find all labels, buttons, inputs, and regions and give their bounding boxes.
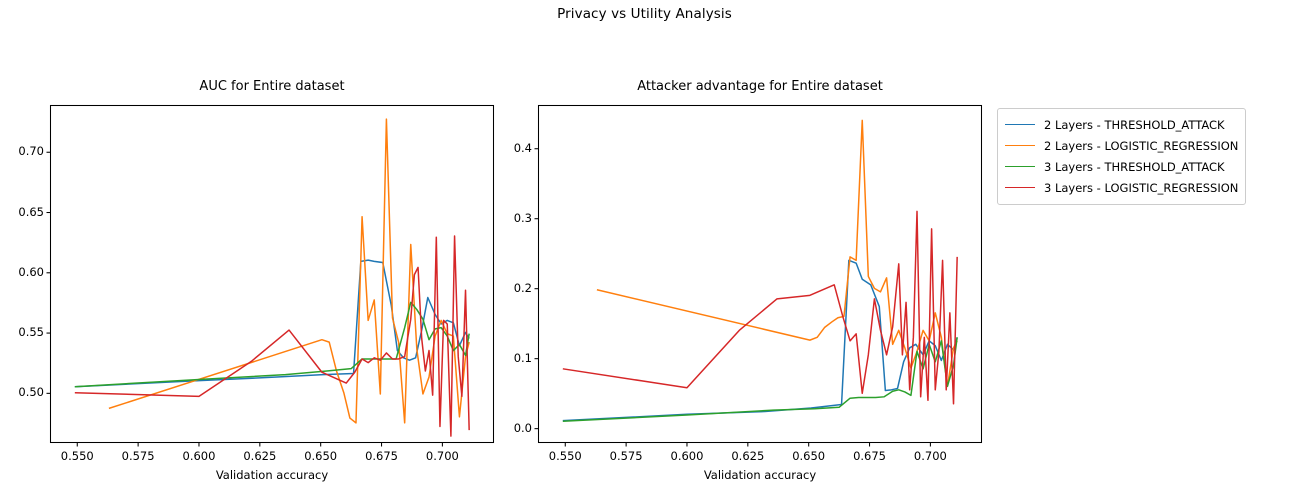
x-tick-label: 0.625 xyxy=(718,449,778,463)
legend-entry-3: 3 Layers - THRESHOLD_ATTACK xyxy=(1005,156,1238,177)
x-tick-label: 0.700 xyxy=(412,449,472,463)
figure-suptitle: Privacy vs Utility Analysis xyxy=(0,6,1289,22)
chart-legend: 2 Layers - THRESHOLD_ATTACK2 Layers - LO… xyxy=(997,108,1246,205)
figure-canvas: Privacy vs Utility Analysis 2 Layers - T… xyxy=(0,0,1289,495)
y-tick-label: 0.70 xyxy=(0,144,44,158)
plot-area xyxy=(538,105,982,443)
legend-entry-label: 2 Layers - THRESHOLD_ATTACK xyxy=(1044,118,1225,132)
legend-entry-label: 2 Layers - LOGISTIC_REGRESSION xyxy=(1044,139,1238,153)
y-tick-label: 0.4 xyxy=(472,141,532,155)
x-tick-label: 0.675 xyxy=(352,449,412,463)
legend-entry-label: 3 Layers - THRESHOLD_ATTACK xyxy=(1044,160,1225,174)
y-tick-label: 0.50 xyxy=(0,385,44,399)
x-tick-label: 0.675 xyxy=(840,449,900,463)
y-tick-label: 0.55 xyxy=(0,325,44,339)
subplot-2 xyxy=(538,105,982,443)
x-axis-label-2: Validation accuracy xyxy=(538,468,982,482)
y-tick-label: 0.60 xyxy=(0,265,44,279)
y-tick-label: 0.65 xyxy=(0,205,44,219)
x-tick-label: 0.600 xyxy=(657,449,717,463)
x-tick-label: 0.650 xyxy=(291,449,351,463)
y-tick-label: 0.0 xyxy=(472,421,532,435)
legend-entry-2: 2 Layers - LOGISTIC_REGRESSION xyxy=(1005,135,1238,156)
x-axis-label-1: Validation accuracy xyxy=(50,468,494,482)
x-tick-label: 0.575 xyxy=(596,449,656,463)
x-tick-label: 0.550 xyxy=(47,449,107,463)
legend-line-swatch-icon xyxy=(1005,145,1035,146)
subplot-1 xyxy=(50,105,494,443)
series-line-2 xyxy=(109,119,469,423)
x-tick-label: 0.650 xyxy=(779,449,839,463)
y-tick-label: 0.1 xyxy=(472,351,532,365)
x-tick-label: 0.600 xyxy=(169,449,229,463)
series-line-1 xyxy=(563,260,957,420)
x-tick-label: 0.550 xyxy=(535,449,595,463)
legend-line-swatch-icon xyxy=(1005,187,1035,188)
series-line-3 xyxy=(563,337,957,421)
plot-area xyxy=(50,105,494,443)
legend-entry-1: 2 Layers - THRESHOLD_ATTACK xyxy=(1005,114,1238,135)
axes-frame xyxy=(51,106,494,443)
subplot-title-1: AUC for Entire dataset xyxy=(50,79,494,94)
y-tick-label: 0.3 xyxy=(472,211,532,225)
legend-line-swatch-icon xyxy=(1005,166,1035,167)
legend-entry-label: 3 Layers - LOGISTIC_REGRESSION xyxy=(1044,181,1238,195)
series-line-4 xyxy=(563,211,957,403)
x-tick-label: 0.700 xyxy=(900,449,960,463)
legend-line-swatch-icon xyxy=(1005,124,1035,125)
subplot-title-2: Attacker advantage for Entire dataset xyxy=(538,79,982,94)
x-tick-label: 0.575 xyxy=(108,449,168,463)
x-tick-label: 0.625 xyxy=(230,449,290,463)
y-tick-label: 0.2 xyxy=(472,281,532,295)
legend-entry-4: 3 Layers - LOGISTIC_REGRESSION xyxy=(1005,177,1238,198)
